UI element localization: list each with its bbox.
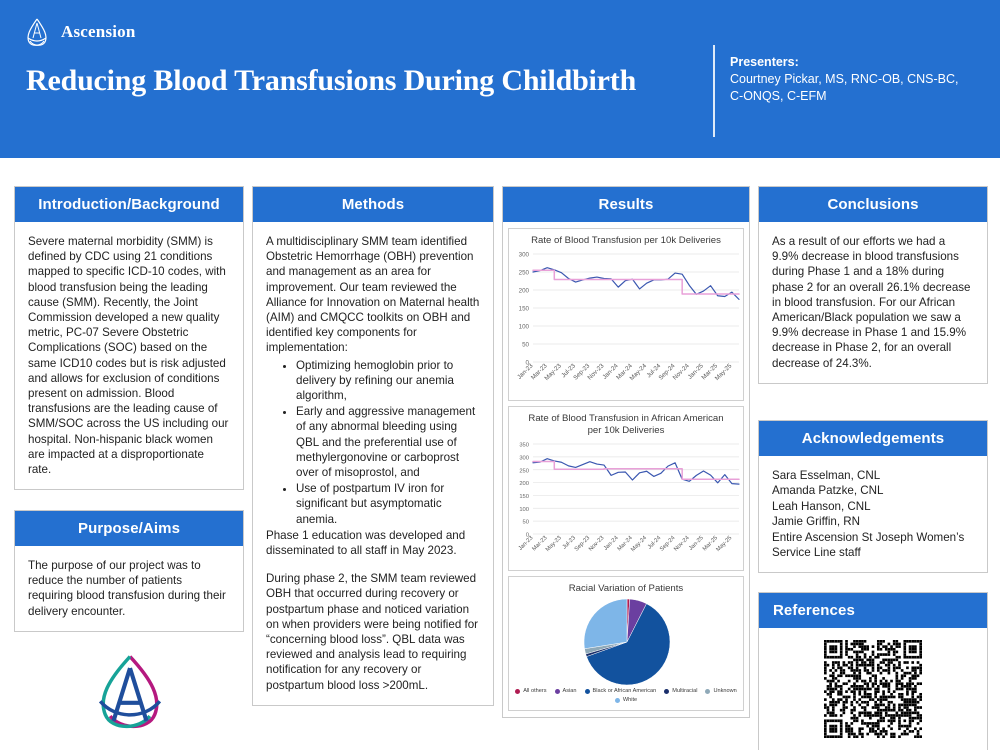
- legend-label: Multiracial: [672, 688, 697, 694]
- section-body-introduction: Severe maternal morbidity (SMM) is defin…: [15, 222, 243, 489]
- legend-label: Black or African American: [593, 688, 657, 694]
- section-purpose: Purpose/Aims The purpose of our project …: [14, 510, 244, 632]
- list-item: Use of postpartum IV iron for significan…: [296, 481, 480, 527]
- section-methods: Methods A multidisciplinary SMM team ide…: [252, 186, 494, 706]
- presenters-block: Presenters: Courtney Pickar, MS, RNC-OB,…: [730, 54, 980, 105]
- presenter-name-line-1: Courtney Pickar, MS, RNC-OB, CNS-BC,: [730, 71, 980, 88]
- chart-title: Rate of Blood Transfusion in African Ame…: [509, 407, 743, 440]
- list-item: Early and aggressive management of any a…: [296, 404, 480, 480]
- svg-text:100: 100: [519, 324, 530, 331]
- legend-label: Unknown: [713, 688, 736, 694]
- svg-text:300: 300: [519, 455, 529, 461]
- section-body-conclusions: As a result of our efforts we had a 9.9%…: [759, 222, 987, 383]
- section-heading-methods: Methods: [253, 187, 493, 222]
- purpose-text: The purpose of our project was to reduce…: [28, 558, 230, 619]
- trinity-knot-color-icon: [80, 650, 180, 745]
- list-item: Sara Esselman, CNL: [772, 468, 974, 483]
- svg-text:Nov-23: Nov-23: [588, 535, 605, 552]
- svg-text:150: 150: [519, 494, 529, 500]
- section-conclusions: Conclusions As a result of our efforts w…: [758, 186, 988, 384]
- section-heading-references: References: [759, 593, 987, 628]
- list-item: Entire Ascension St Joseph Women’s: [772, 530, 974, 545]
- svg-text:May-24: May-24: [630, 535, 648, 553]
- presenters-label: Presenters:: [730, 54, 980, 71]
- ascension-trinity-logo: [80, 650, 180, 745]
- svg-text:200: 200: [519, 288, 530, 295]
- svg-text:350: 350: [519, 443, 529, 449]
- pie-chart-legend: All othersAsianBlack or African American…: [509, 686, 743, 710]
- section-results: Results Rate of Blood Transfusion per 10…: [502, 186, 750, 718]
- references-qr-container: [759, 628, 987, 750]
- svg-text:50: 50: [523, 520, 529, 526]
- list-item: Optimizing hemoglobin prior to delivery …: [296, 358, 480, 404]
- svg-text:May-23: May-23: [545, 535, 563, 553]
- qr-code-icon[interactable]: [824, 640, 922, 738]
- list-item: Leah Hanson, CNL: [772, 499, 974, 514]
- svg-text:250: 250: [519, 270, 530, 277]
- section-heading-results: Results: [503, 187, 749, 222]
- section-body-acknowledgements: Sara Esselman, CNL Amanda Patzke, CNL Le…: [759, 456, 987, 572]
- legend-item: White: [615, 697, 637, 703]
- methods-intro-text: A multidisciplinary SMM team identified …: [266, 234, 480, 356]
- legend-swatch: [664, 689, 669, 694]
- legend-item: Multiracial: [664, 688, 697, 694]
- section-heading-introduction: Introduction/Background: [15, 187, 243, 222]
- section-body-results: Rate of Blood Transfusion per 10k Delive…: [503, 222, 749, 717]
- chart-title: Rate of Blood Transfusion per 10k Delive…: [509, 229, 743, 250]
- methods-phase2-text: During phase 2, the SMM team reviewed OB…: [266, 571, 480, 693]
- poster-header: Ascension Reducing Blood Transfusions Du…: [0, 0, 1000, 158]
- list-item: Amanda Patzke, CNL: [772, 483, 974, 498]
- pie-chart-plot: [509, 598, 743, 686]
- section-heading-purpose: Purpose/Aims: [15, 511, 243, 546]
- conclusions-text: As a result of our efforts we had a 9.9%…: [772, 234, 974, 371]
- legend-swatch: [705, 689, 710, 694]
- section-introduction: Introduction/Background Severe maternal …: [14, 186, 244, 490]
- svg-text:May-25: May-25: [715, 535, 733, 553]
- legend-item: Asian: [555, 688, 577, 694]
- chart-racial-variation: Racial Variation of Patients All othersA…: [508, 576, 744, 711]
- legend-item: All others: [515, 688, 546, 694]
- trinity-knot-icon: [22, 16, 52, 48]
- presenter-divider: [713, 45, 715, 137]
- svg-text:150: 150: [519, 306, 530, 313]
- chart-blood-transfusion-rate: Rate of Blood Transfusion per 10k Delive…: [508, 228, 744, 401]
- section-heading-acknowledgements: Acknowledgements: [759, 421, 987, 456]
- legend-swatch: [555, 689, 560, 694]
- section-heading-conclusions: Conclusions: [759, 187, 987, 222]
- methods-bullet-list: Optimizing hemoglobin prior to delivery …: [266, 358, 480, 527]
- legend-swatch: [515, 689, 520, 694]
- introduction-text: Severe maternal morbidity (SMM) is defin…: [28, 234, 230, 477]
- legend-swatch: [615, 698, 620, 703]
- svg-text:100: 100: [519, 507, 529, 513]
- research-poster: Ascension Reducing Blood Transfusions Du…: [0, 0, 1000, 750]
- section-acknowledgements: Acknowledgements Sara Esselman, CNL Aman…: [758, 420, 988, 573]
- section-body-methods: A multidisciplinary SMM team identified …: [253, 222, 493, 705]
- legend-item: Unknown: [705, 688, 736, 694]
- svg-text:250: 250: [519, 468, 529, 474]
- svg-text:200: 200: [519, 481, 529, 487]
- svg-text:Nov-24: Nov-24: [673, 535, 691, 553]
- legend-swatch: [585, 689, 590, 694]
- line-chart-2-plot: 050100150200250300350Jan-23Mar-23May-23J…: [509, 440, 743, 570]
- chart-title: Racial Variation of Patients: [509, 577, 743, 598]
- list-item: Jamie Griffin, RN: [772, 514, 974, 529]
- list-item: Service Line staff: [772, 545, 974, 560]
- brand-name: Ascension: [61, 22, 136, 42]
- svg-text:300: 300: [519, 252, 530, 259]
- brand-logo: Ascension: [22, 16, 136, 48]
- section-body-purpose: The purpose of our project was to reduce…: [15, 546, 243, 631]
- legend-label: Asian: [563, 688, 577, 694]
- chart-blood-transfusion-rate-african-american: Rate of Blood Transfusion in African Ame…: [508, 406, 744, 571]
- section-references: References: [758, 592, 988, 750]
- legend-label: All others: [523, 688, 546, 694]
- methods-phase1-text: Phase 1 education was developed and diss…: [266, 528, 480, 558]
- line-chart-1-plot: 050100150200250300Jan-23Mar-23May-23Jul-…: [509, 250, 743, 400]
- legend-label: White: [623, 697, 637, 703]
- svg-text:50: 50: [522, 342, 529, 349]
- legend-item: Black or African American: [585, 688, 657, 694]
- page-title: Reducing Blood Transfusions During Child…: [26, 64, 716, 98]
- presenter-name-line-2: C-ONQS, C-EFM: [730, 88, 980, 105]
